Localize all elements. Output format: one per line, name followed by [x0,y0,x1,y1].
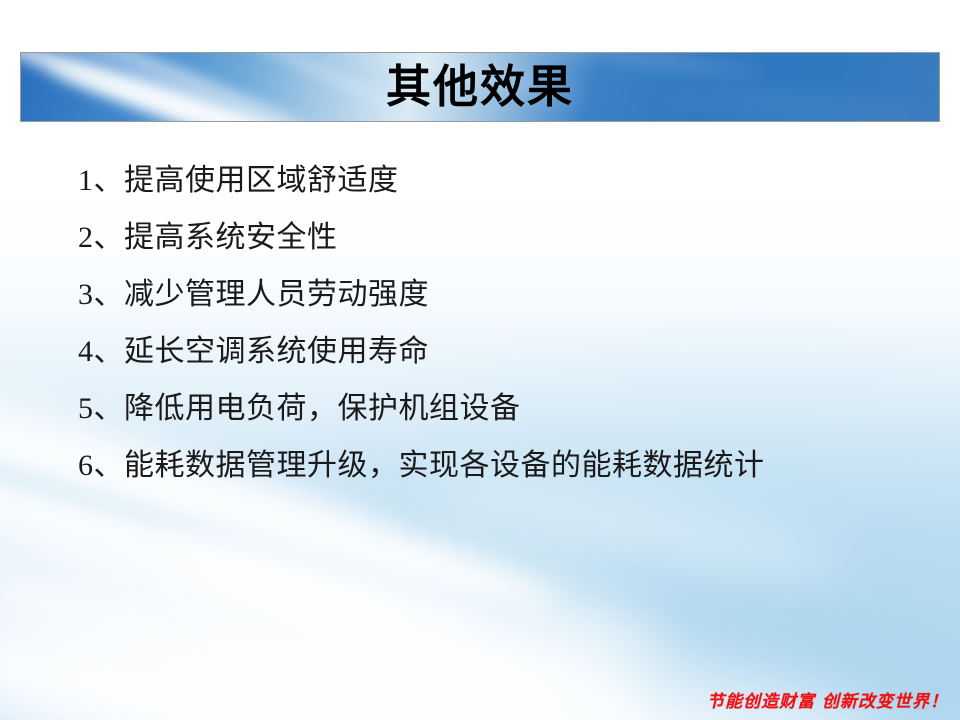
bullet-item-6: 6、能耗数据管理升级，实现各设备的能耗数据统计 [78,437,918,494]
bullet-item-1: 1、提高使用区域舒适度 [78,152,918,209]
slide-title: 其他效果 [21,53,939,121]
bullet-list: 1、提高使用区域舒适度 2、提高系统安全性 3、减少管理人员劳动强度 4、延长空… [78,152,918,494]
bullet-item-2: 2、提高系统安全性 [78,209,918,266]
bullet-item-3: 3、减少管理人员劳动强度 [78,266,918,323]
slogan-text: 节能创造财富 创新改变世界！ [707,687,948,712]
bullet-item-5: 5、降低用电负荷，保护机组设备 [78,380,918,437]
bullet-item-4: 4、延长空调系统使用寿命 [78,323,918,380]
presentation-slide: 其他效果 1、提高使用区域舒适度 2、提高系统安全性 3、减少管理人员劳动强度 … [0,0,960,720]
title-banner: 其他效果 [20,52,940,122]
